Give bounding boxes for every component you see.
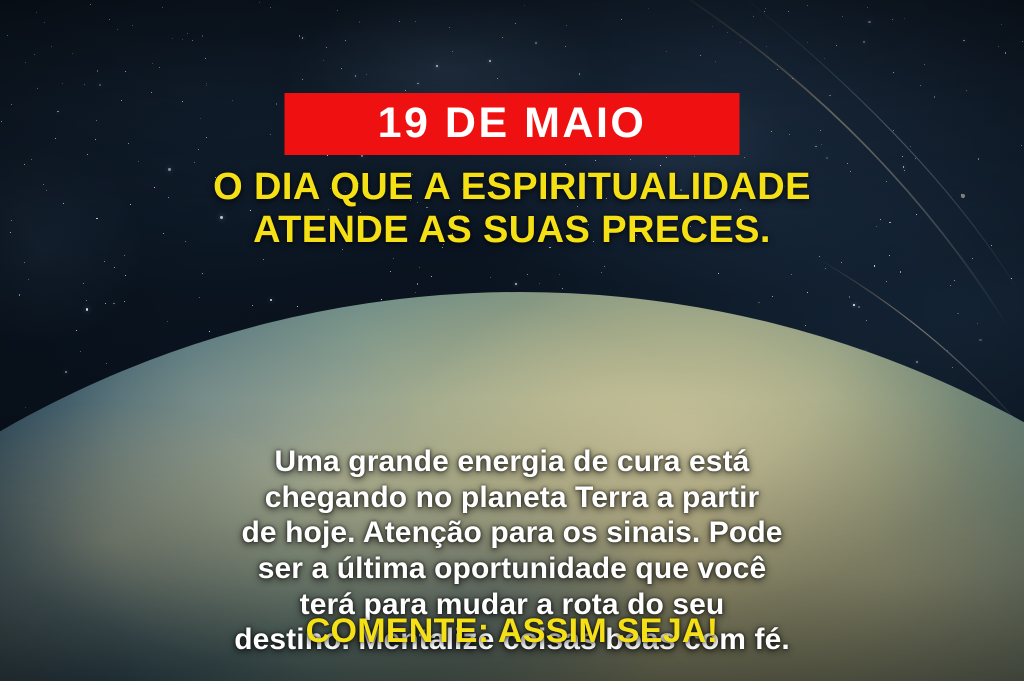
social-media-poster: 19 DE MAIO O DIA QUE A ESPIRITUALIDADE A…: [0, 0, 1024, 685]
call-to-action-label: COMENTE: ASSIM SEJA!: [306, 612, 719, 650]
date-banner: 19 DE MAIO: [285, 93, 740, 155]
date-banner-label: 19 DE MAIO: [378, 102, 647, 145]
body-line-4: ser a última oportunidade que você: [0, 551, 1024, 587]
headline-line-2: ATENDE AS SUAS PRECES.: [0, 209, 1024, 252]
body-line-1: Uma grande energia de cura está: [0, 444, 1024, 480]
headline-line-1: O DIA QUE A ESPIRITUALIDADE: [0, 166, 1024, 209]
call-to-action: COMENTE: ASSIM SEJA!: [0, 614, 1024, 648]
body-line-2: chegando no planeta Terra a partir: [0, 480, 1024, 516]
body-line-3: de hoje. Atenção para os sinais. Pode: [0, 515, 1024, 551]
bottom-strip: [0, 681, 1024, 685]
poster-content: 19 DE MAIO O DIA QUE A ESPIRITUALIDADE A…: [0, 0, 1024, 685]
headline: O DIA QUE A ESPIRITUALIDADE ATENDE AS SU…: [0, 166, 1024, 251]
